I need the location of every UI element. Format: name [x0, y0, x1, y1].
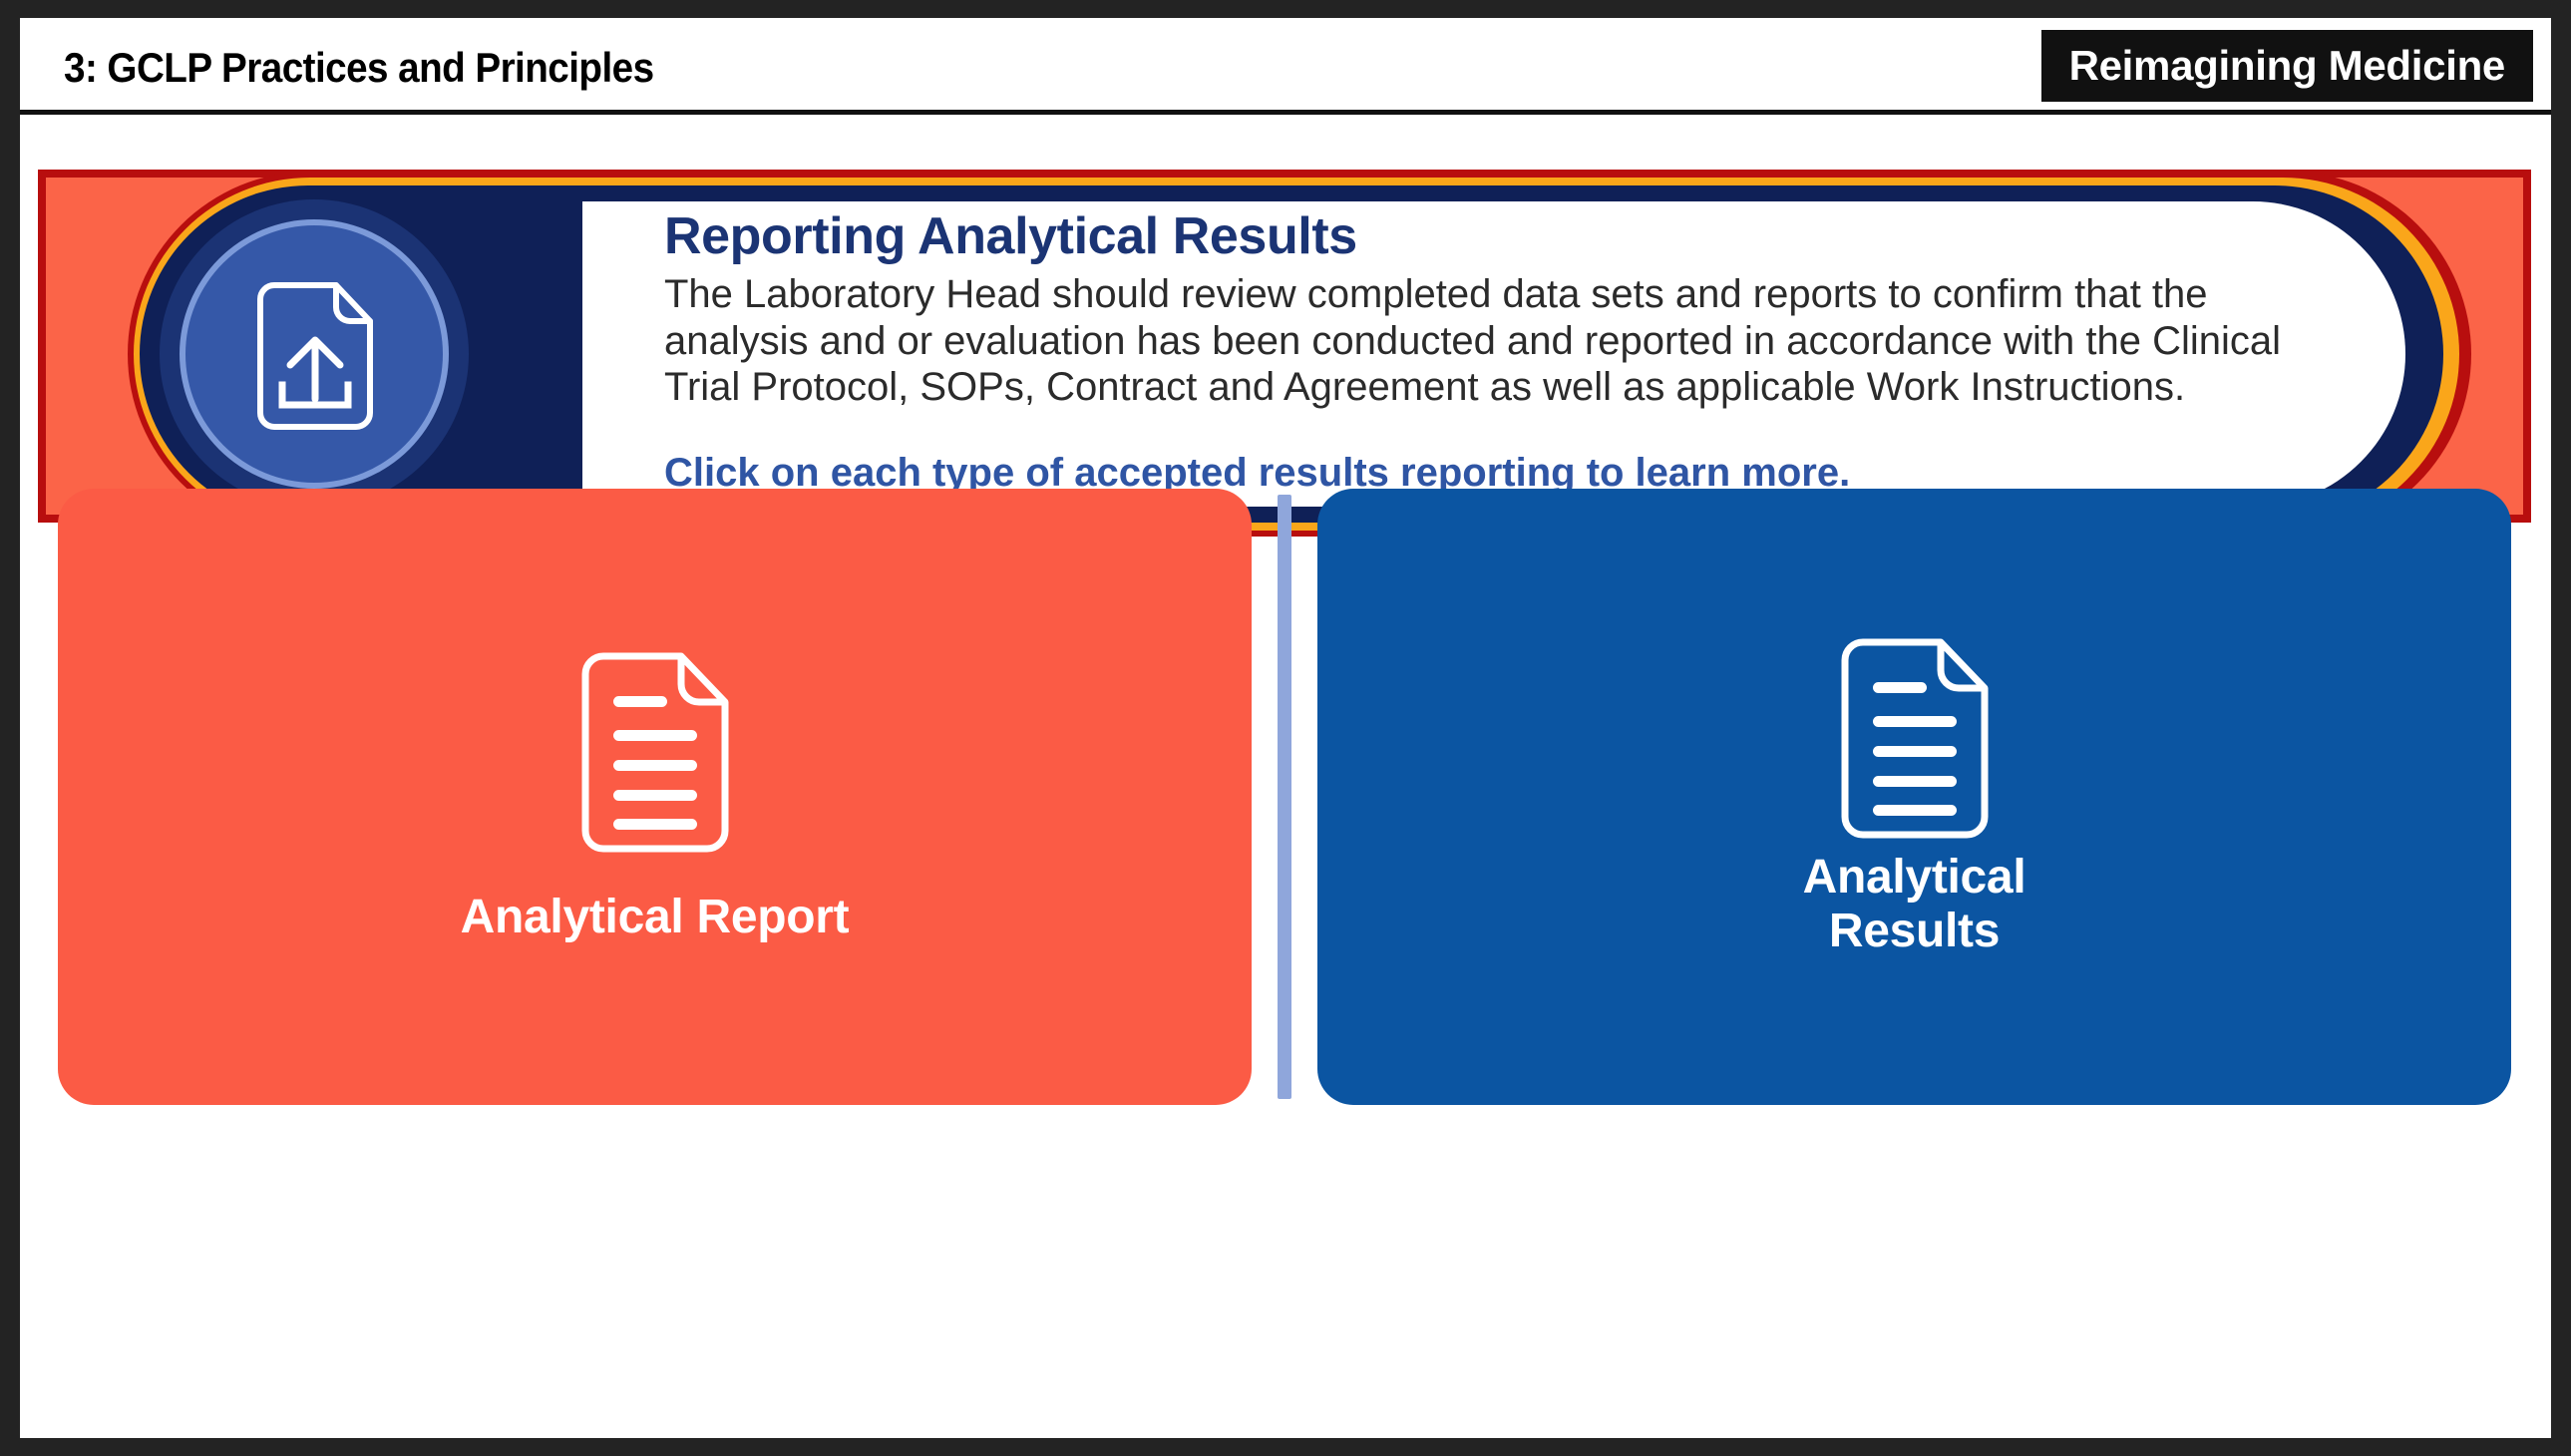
- card-analytical-report[interactable]: Analytical Report: [58, 489, 1252, 1105]
- hero-heading: Reporting Analytical Results: [664, 207, 2340, 265]
- slide-page: 3: GCLP Practices and Principles Reimagi…: [20, 18, 2551, 1438]
- brand-badge: Reimagining Medicine: [2041, 30, 2533, 102]
- hero-text-block: Reporting Analytical Results The Laborat…: [664, 207, 2340, 496]
- hero-panel: Reporting Analytical Results The Laborat…: [38, 170, 2531, 523]
- cards-divider: [1278, 495, 1291, 1099]
- document-upload-icon: [250, 281, 380, 431]
- document-lines-icon: [1837, 636, 1993, 841]
- brand-badge-label: Reimagining Medicine: [2069, 42, 2505, 90]
- slide-header: 3: GCLP Practices and Principles Reimagi…: [20, 18, 2551, 110]
- card-analytical-report-label: Analytical Report: [461, 891, 850, 944]
- card-analytical-results-label: Analytical Results: [1803, 851, 2026, 958]
- options-row: Analytical Report Analytical Results: [58, 489, 2513, 1105]
- hero-body-text: The Laboratory Head should review comple…: [664, 271, 2340, 410]
- hero-panel-wrapper: Reporting Analytical Results The Laborat…: [38, 110, 2531, 529]
- slide-frame: 3: GCLP Practices and Principles Reimagi…: [0, 0, 2571, 1456]
- card-analytical-results[interactable]: Analytical Results: [1317, 489, 2511, 1105]
- document-lines-icon: [577, 650, 733, 855]
- page-title: 3: GCLP Practices and Principles: [64, 44, 654, 92]
